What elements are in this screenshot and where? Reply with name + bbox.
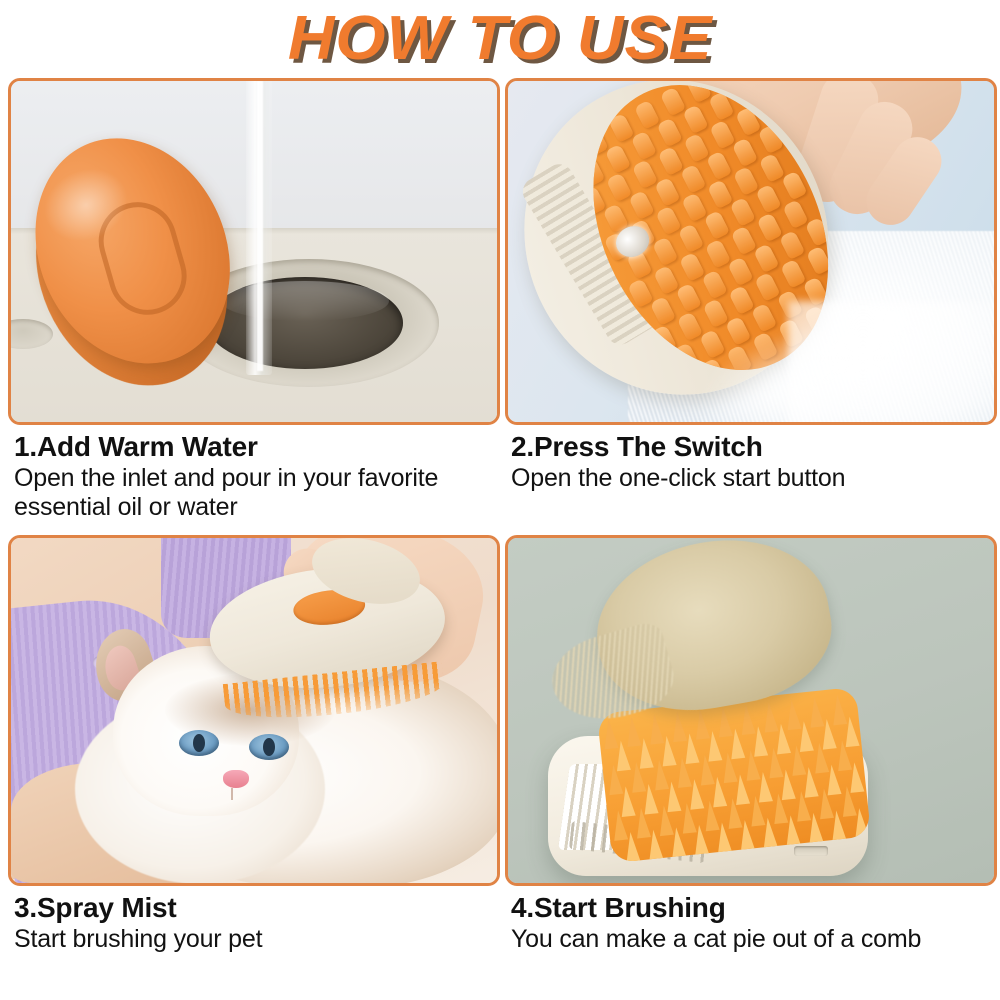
steam-cloud (788, 301, 994, 422)
bristle (654, 177, 680, 207)
bristle (692, 824, 709, 855)
step-2-title: 2.Press The Switch (511, 431, 995, 462)
bristle (650, 296, 676, 326)
step-2-body: Open the one-click start button (511, 464, 995, 493)
bristle (660, 86, 686, 116)
step-3-photo-frame (8, 535, 500, 886)
bristle (761, 817, 778, 848)
bristle (755, 184, 781, 214)
cat-mouth (231, 788, 243, 800)
bristle (781, 171, 807, 201)
bristle (646, 829, 663, 860)
water-inlet-photo (11, 81, 497, 422)
bristle (652, 236, 678, 266)
step-4-photo-frame (505, 535, 997, 886)
bristle (678, 223, 704, 253)
bristle (728, 285, 754, 315)
step-1-caption: 1.Add Warm Water Open the inlet and pour… (8, 425, 500, 522)
bristle (829, 810, 846, 841)
bristle (709, 120, 735, 150)
cat-eye-left (179, 730, 219, 756)
step-2-photo-frame (505, 78, 997, 425)
bristle (608, 113, 634, 143)
bristle (653, 265, 679, 295)
bristle (707, 179, 733, 209)
cat-pie-photo (508, 538, 994, 883)
step-3-title: 3.Spray Mist (14, 892, 498, 923)
bristle (828, 263, 854, 293)
bristle (725, 316, 751, 346)
charging-slot (794, 846, 828, 856)
bristle (682, 104, 708, 134)
bristle (679, 252, 705, 282)
press-switch-photo (508, 81, 994, 422)
bristle (680, 164, 706, 194)
bristle (681, 192, 707, 222)
cat-eye-right (249, 734, 289, 760)
bristle (782, 199, 808, 229)
bristle (706, 151, 732, 181)
bristle (655, 205, 681, 235)
bristle (703, 210, 729, 240)
bristle (732, 137, 758, 167)
bristle (754, 272, 780, 302)
bristle (730, 225, 756, 255)
step-card-2: 2.Press The Switch Open the one-click st… (505, 78, 997, 493)
bristle (657, 146, 683, 176)
bristle (715, 822, 732, 853)
bristle (683, 133, 709, 163)
step-4-body: You can make a cat pie out of a comb (511, 925, 995, 954)
bristle (701, 270, 727, 300)
bristle-pad (597, 687, 871, 863)
step-card-4: 4.Start Brushing You can make a cat pie … (505, 535, 997, 954)
bristle (606, 172, 632, 202)
bristle (751, 303, 777, 333)
bristle (733, 166, 759, 196)
cat-pupil (193, 734, 205, 752)
step-3-caption: 3.Spray Mist Start brushing your pet (8, 886, 500, 954)
bristle (630, 131, 656, 161)
title-bar: HOW TO USE (0, 0, 1000, 78)
bristle (738, 819, 755, 850)
steps-grid: 1.Add Warm Water Open the inlet and pour… (0, 78, 1000, 1000)
bristle (677, 311, 703, 341)
bristle (759, 153, 785, 183)
bristle (605, 144, 631, 174)
step-4-caption: 4.Start Brushing You can make a cat pie … (505, 886, 997, 954)
page-title: HOW TO USE (288, 8, 713, 70)
bristle (623, 831, 640, 862)
bristle (669, 827, 686, 858)
bristle (705, 239, 731, 269)
spray-mist-photo (11, 538, 497, 883)
step-1-title: 1.Add Warm Water (14, 431, 498, 462)
step-4-title: 4.Start Brushing (511, 892, 995, 923)
bristle (806, 812, 823, 843)
bristle (734, 81, 760, 108)
bristle (727, 256, 753, 286)
bristle (784, 815, 801, 846)
step-1-photo-frame (8, 78, 500, 425)
bristle (852, 807, 869, 838)
bristle (632, 159, 658, 189)
bristle (729, 197, 755, 227)
bristle (628, 190, 654, 220)
bristle (634, 100, 660, 130)
how-to-use-infographic: HOW TO USE (0, 0, 1000, 1000)
bristle (780, 259, 806, 289)
step-3-body: Start brushing your pet (14, 925, 498, 954)
bristle (753, 243, 779, 273)
step-card-1: 1.Add Warm Water Open the inlet and pour… (8, 78, 500, 522)
bristle (779, 230, 805, 260)
step-1-body: Open the inlet and pour in your favorite… (14, 464, 498, 522)
bristle (702, 298, 728, 328)
cat-pupil (263, 738, 275, 756)
cat-nose (223, 770, 249, 788)
step-2-caption: 2.Press The Switch Open the one-click st… (505, 425, 997, 493)
bristle (656, 117, 682, 147)
bristle (675, 283, 701, 313)
bristle (756, 212, 782, 242)
step-card-3: 3.Spray Mist Start brushing your pet (8, 535, 500, 954)
